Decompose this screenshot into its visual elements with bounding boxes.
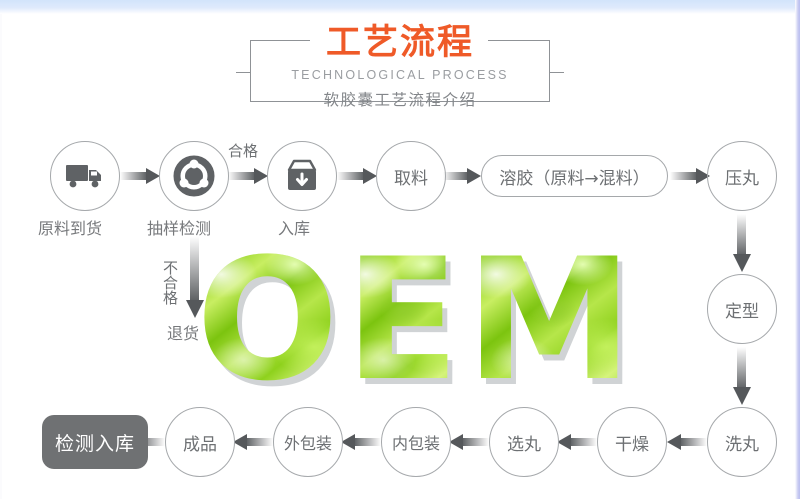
node-drying-label: 干燥 — [615, 430, 649, 455]
delivery-truck-icon — [65, 163, 105, 189]
top-edge-band — [0, 0, 800, 14]
node-gel-mixing[interactable]: 溶胶（原料→混料） — [481, 155, 668, 197]
node-wash-pill-label: 洗丸 — [725, 430, 759, 455]
oem-watermark: O E M — [196, 238, 696, 403]
arrow-select-to-innerpack — [447, 432, 489, 452]
oem-letter-e: E — [345, 238, 458, 403]
arrow-dry-to-select — [555, 432, 597, 452]
node-sample-inspection[interactable] — [159, 141, 229, 211]
node-warehouse-in[interactable] — [267, 141, 337, 211]
oem-letter-o: O — [196, 238, 337, 403]
node-finished-product[interactable]: 成品 — [165, 407, 235, 477]
node-press-pill-label: 压丸 — [725, 164, 759, 189]
page-title: 工艺流程 — [244, 22, 556, 64]
header-title-block: 工艺流程 TECHNOLOGICAL PROCESS 软胶囊工艺流程介绍 — [244, 22, 556, 110]
arrow-inspection-to-return — [184, 236, 206, 322]
branch-label-fail: 不合格 — [160, 260, 181, 305]
arrow-outerpack-to-finished — [231, 432, 273, 452]
node-inner-packaging[interactable]: 内包装 — [381, 407, 451, 477]
arrow-pickup-to-gelmix — [443, 166, 483, 186]
arrow-inspection-to-warehouse — [228, 166, 270, 186]
process-flow-infographic: 工艺流程 TECHNOLOGICAL PROCESS 软胶囊工艺流程介绍 O E… — [0, 0, 800, 499]
inbox-download-icon — [283, 159, 321, 193]
node-finished-product-label: 成品 — [183, 430, 217, 455]
page-subtitle-en: TECHNOLOGICAL PROCESS — [244, 68, 556, 82]
caption-sample-inspection: 抽样检测 — [147, 215, 211, 239]
arrow-wash-to-dry — [665, 432, 707, 452]
arrow-innerpack-to-outerpack — [339, 432, 381, 452]
caption-warehouse-in: 入库 — [278, 215, 310, 239]
arrow-truck-to-inspection — [120, 166, 162, 186]
node-outer-packaging-label: 外包装 — [284, 430, 332, 454]
arrow-shape-to-wash — [731, 347, 753, 409]
node-gel-mixing-label: 溶胶（原料→混料） — [499, 164, 649, 189]
node-material-arrival[interactable] — [50, 141, 120, 211]
node-inner-packaging-label: 内包装 — [392, 430, 440, 454]
arrow-gelmix-to-press — [670, 166, 712, 186]
branch-label-pass: 合格 — [228, 140, 258, 161]
branch-return-node: 退货 — [167, 320, 199, 344]
node-shaping-label: 定型 — [725, 297, 759, 322]
node-outer-packaging[interactable]: 外包装 — [273, 407, 343, 477]
node-pill-selection[interactable]: 选丸 — [489, 407, 559, 477]
node-drying[interactable]: 干燥 — [597, 407, 667, 477]
node-press-pill[interactable]: 压丸 — [707, 141, 777, 211]
node-pickup[interactable]: 取料 — [376, 141, 446, 211]
node-pickup-label: 取料 — [394, 164, 428, 189]
node-final-inspection-warehouse[interactable]: 检测入库 — [42, 415, 148, 469]
left-edge-strip — [0, 14, 2, 499]
right-edge-strip — [795, 0, 800, 499]
node-shaping[interactable]: 定型 — [707, 274, 777, 344]
caption-material-arrival: 原料到货 — [38, 215, 102, 239]
arrow-press-to-shape — [731, 214, 753, 276]
arrow-warehouse-to-pickup — [337, 166, 379, 186]
sample-inspection-icon — [172, 154, 216, 198]
page-subtitle-cn: 软胶囊工艺流程介绍 — [244, 88, 556, 110]
node-pill-selection-label: 选丸 — [507, 430, 541, 455]
node-final-inspection-label: 检测入库 — [55, 429, 135, 456]
node-wash-pill[interactable]: 洗丸 — [707, 407, 777, 477]
oem-letter-m: M — [466, 238, 633, 403]
